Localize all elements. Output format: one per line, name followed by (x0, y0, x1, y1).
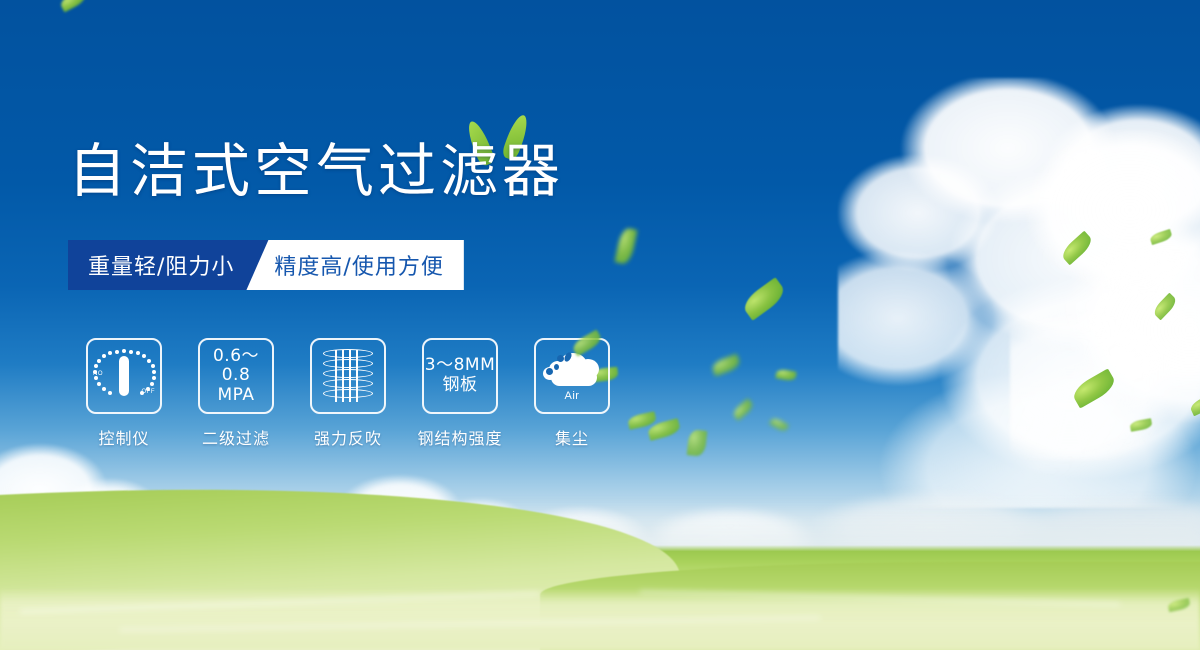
feature-list: NO OFF 控制仪 0.6～0.8 MPA 二级过滤 (68, 338, 628, 449)
feature-label: 钢结构强度 (417, 425, 502, 449)
gauge-no-label: NO (93, 371, 103, 377)
pressure-line-1: 0.6～0.8 (213, 346, 259, 386)
subtitle-bar: 重量轻/阻力小 精度高/使用方便 (68, 240, 464, 290)
steel-line-2: 钢板 (425, 376, 495, 396)
feature-item-backblow[interactable]: 强力反吹 (292, 338, 404, 449)
feature-label: 控制仪 (98, 425, 149, 449)
subtitle-right-segment: 精度高/使用方便 (246, 240, 463, 290)
gauge-off-label: OFF (142, 389, 156, 395)
page-title: 自洁式空气过滤器 (68, 142, 564, 200)
feature-item-controller[interactable]: NO OFF 控制仪 (68, 338, 180, 449)
feature-item-filtration[interactable]: 0.6～0.8 MPA 二级过滤 (180, 338, 292, 449)
gauge-dial-icon: NO OFF (93, 347, 155, 405)
steel-line-1: 3～8MM (425, 355, 495, 375)
steel-plate-text-icon: 3～8MM 钢板 (425, 356, 495, 395)
coil-stack-icon (323, 347, 373, 405)
feature-label: 二级过滤 (202, 425, 270, 449)
feature-item-dust-collection[interactable]: Air 集尘 (516, 338, 628, 449)
feature-icon-box (310, 338, 386, 414)
product-banner: 自洁式空气过滤器 重量轻/阻力小 精度高/使用方便 (0, 0, 1200, 650)
feature-icon-box: 0.6～0.8 MPA (198, 338, 274, 414)
feature-label: 集尘 (555, 425, 589, 449)
feature-item-steel[interactable]: 3～8MM 钢板 钢结构强度 (404, 338, 516, 449)
feature-icon-box: Air (534, 338, 610, 414)
feature-label: 强力反吹 (314, 425, 382, 449)
cloud-air-icon (543, 351, 601, 389)
pressure-line-2: MPA (200, 386, 272, 406)
subtitle-left-segment: 重量轻/阻力小 (68, 240, 268, 290)
air-label: Air (565, 390, 580, 402)
feature-icon-box: 3～8MM 钢板 (422, 338, 498, 414)
gauge-needle (119, 356, 129, 396)
pressure-text-icon: 0.6～0.8 MPA (200, 347, 272, 406)
feature-icon-box: NO OFF (86, 338, 162, 414)
